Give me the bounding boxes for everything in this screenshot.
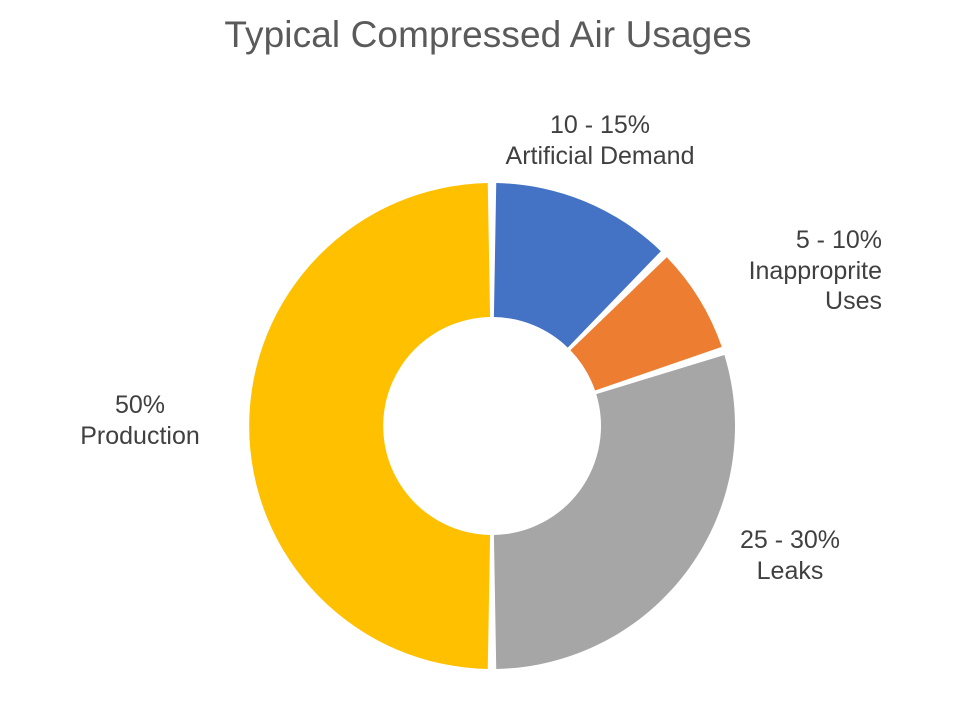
slice-label-leaks: 25 - 30% Leaks — [660, 525, 920, 586]
slice-label-inappropriate-uses: 5 - 10% Inapproprite Uses — [600, 225, 882, 317]
slice-label-artificial-demand: 10 - 15% Artificial Demand — [410, 110, 790, 171]
chart-title: Typical Compressed Air Usages — [0, 14, 976, 57]
slice-label-production: 50% Production — [30, 390, 250, 451]
slice-percent-production: 50% — [30, 390, 250, 421]
slice-name-production: Production — [30, 421, 250, 452]
slice-percent-leaks: 25 - 30% — [660, 525, 920, 556]
slice-name-leaks: Leaks — [660, 556, 920, 587]
slice-percent-inappropriate-uses: 5 - 10% — [600, 225, 882, 256]
chart-canvas: Typical Compressed Air Usages 10 - 15% A… — [0, 0, 976, 701]
slice-name-inappropriate-uses-line2: Uses — [600, 286, 882, 317]
donut-slice-leaks[interactable] — [494, 355, 735, 669]
donut-slice-production[interactable] — [249, 183, 490, 669]
slice-name-artificial-demand: Artificial Demand — [410, 141, 790, 172]
slice-name-inappropriate-uses-line1: Inapproprite — [600, 256, 882, 287]
slice-percent-artificial-demand: 10 - 15% — [410, 110, 790, 141]
